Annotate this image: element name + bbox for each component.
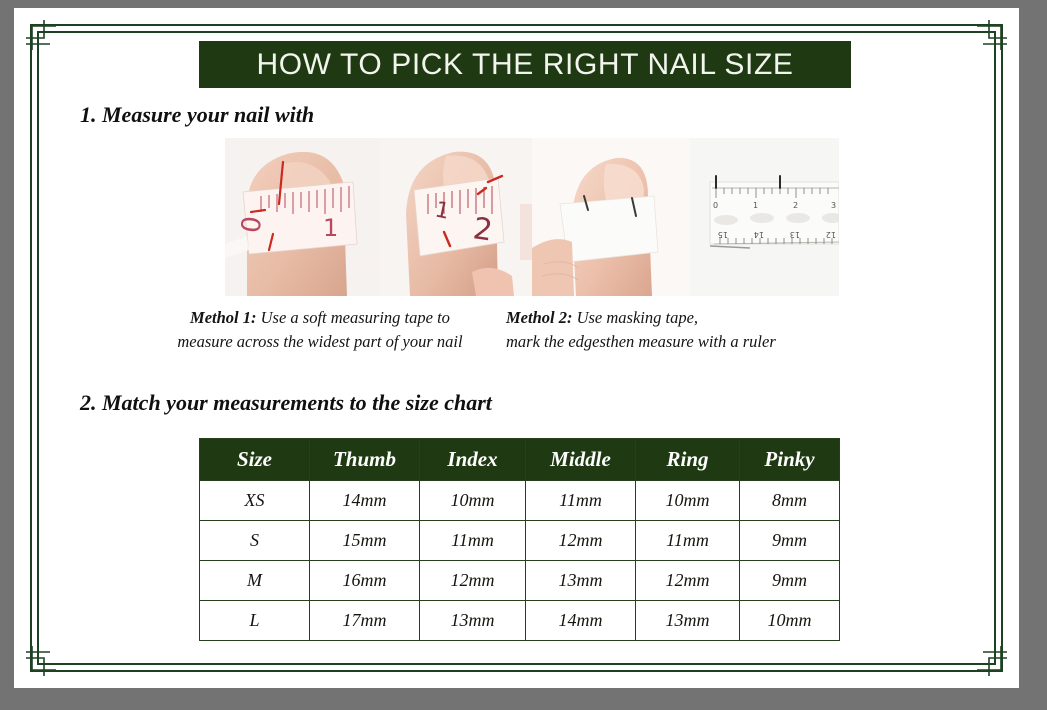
cell-pinky: 9mm <box>740 521 840 561</box>
column-header-thumb: Thumb <box>310 439 420 481</box>
cell-size: M <box>200 561 310 601</box>
method-2-label: Methol 2: <box>506 308 572 327</box>
cell-thumb: 16mm <box>310 561 420 601</box>
table-row: S 15mm 11mm 12mm 11mm 9mm <box>200 521 840 561</box>
table-row: L 17mm 13mm 14mm 13mm 10mm <box>200 601 840 641</box>
method-2-caption: Methol 2: Use masking tape, mark the edg… <box>506 306 906 354</box>
cell-pinky: 9mm <box>740 561 840 601</box>
method-1-line-1: Use a soft measuring tape to <box>261 308 450 327</box>
method-1-label: Methol 1: <box>190 308 256 327</box>
photo-finger-with-masking-tape-marks <box>532 138 690 296</box>
cell-size: L <box>200 601 310 641</box>
cell-middle: 13mm <box>526 561 636 601</box>
cell-middle: 14mm <box>526 601 636 641</box>
size-chart-table: Size Thumb Index Middle Ring Pinky XS 14… <box>199 438 840 641</box>
cell-size: XS <box>200 481 310 521</box>
svg-text:1: 1 <box>323 214 338 242</box>
method-2-line-2: mark the edgesthen measure with a ruler <box>506 330 906 354</box>
photo-ruler-measuring-tape-strip: 0 1 2 3 <box>690 138 839 296</box>
step-2-heading: 2. Match your measurements to the size c… <box>80 390 492 416</box>
svg-text:0: 0 <box>713 201 718 210</box>
title-banner: HOW TO PICK THE RIGHT NAIL SIZE <box>199 41 851 88</box>
cell-thumb: 14mm <box>310 481 420 521</box>
column-header-ring: Ring <box>636 439 740 481</box>
table-row: M 16mm 12mm 13mm 12mm 9mm <box>200 561 840 601</box>
column-header-middle: Middle <box>526 439 636 481</box>
svg-text:15: 15 <box>718 230 728 239</box>
guide-page: HOW TO PICK THE RIGHT NAIL SIZE 1. Measu… <box>14 8 1019 688</box>
column-header-size: Size <box>200 439 310 481</box>
svg-text:14: 14 <box>754 230 764 239</box>
cell-thumb: 15mm <box>310 521 420 561</box>
step-1-heading: 1. Measure your nail with <box>80 102 314 128</box>
cell-middle: 12mm <box>526 521 636 561</box>
cell-ring: 10mm <box>636 481 740 521</box>
cell-ring: 13mm <box>636 601 740 641</box>
cell-ring: 11mm <box>636 521 740 561</box>
method-1-line-2: measure across the widest part of your n… <box>140 330 500 354</box>
cell-middle: 11mm <box>526 481 636 521</box>
page-title: HOW TO PICK THE RIGHT NAIL SIZE <box>256 48 793 82</box>
cell-size: S <box>200 521 310 561</box>
cell-index: 11mm <box>420 521 526 561</box>
photo-finger-with-measuring-tape-two-mark: 1 2 <box>380 138 532 296</box>
column-header-index: Index <box>420 439 526 481</box>
cell-index: 13mm <box>420 601 526 641</box>
svg-text:12: 12 <box>826 230 836 239</box>
cell-index: 12mm <box>420 561 526 601</box>
cell-index: 10mm <box>420 481 526 521</box>
cell-thumb: 17mm <box>310 601 420 641</box>
method-2-line-1: Use masking tape, <box>577 308 698 327</box>
svg-text:1: 1 <box>753 201 758 210</box>
cell-ring: 12mm <box>636 561 740 601</box>
cell-pinky: 10mm <box>740 601 840 641</box>
method-photo-strip: 0 1 <box>225 138 839 296</box>
svg-text:3: 3 <box>831 201 836 210</box>
svg-text:13: 13 <box>790 230 800 239</box>
cell-pinky: 8mm <box>740 481 840 521</box>
column-header-pinky: Pinky <box>740 439 840 481</box>
photo-finger-with-measuring-tape-zero-mark: 0 1 <box>225 138 380 296</box>
table-row: XS 14mm 10mm 11mm 10mm 8mm <box>200 481 840 521</box>
svg-text:2: 2 <box>793 201 798 210</box>
table-header-row: Size Thumb Index Middle Ring Pinky <box>200 439 840 481</box>
method-1-caption: Methol 1: Use a soft measuring tape to m… <box>140 306 500 354</box>
